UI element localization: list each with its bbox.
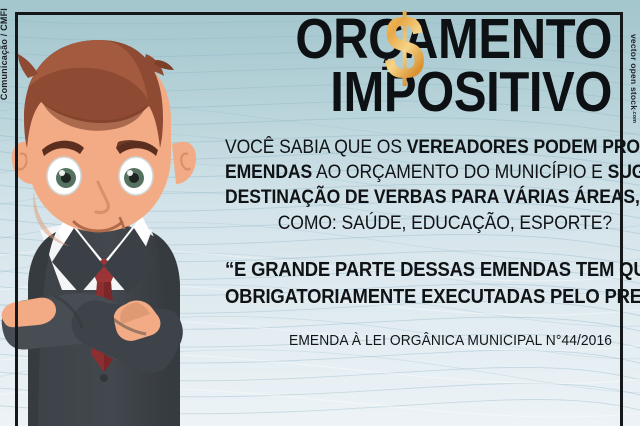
quote-paragraph: “E GRANDE PARTE DESSAS EMENDAS TEM QUE S… — [225, 256, 612, 310]
body-line-1-regular: VOCÊ SABIA QUE OS — [225, 136, 407, 158]
credit-right-label: vector open stock.com — [629, 34, 639, 123]
headline-block: ORÇAMENTO IMPOSITIVO $ — [182, 14, 612, 119]
credit-left-label: Comunicação / CMFI — [0, 8, 9, 100]
headline-line-2-text: IMPOSITIVO — [330, 60, 612, 124]
headline-line-2: IMPOSITIVO — [242, 67, 612, 118]
poster-text-content: ORÇAMENTO IMPOSITIVO $ VOCÊ SABIA QUE OS… — [182, 14, 612, 349]
body-line-2-bold-b: SUGERIR — [608, 161, 640, 183]
body-line-1-bold: VEREADORES PODEM PROPOR — [407, 136, 640, 158]
body-line-2-regular: AO ORÇAMENTO DO MUNICÍPIO E — [312, 161, 607, 183]
credit-right-text: vector open stock — [629, 34, 639, 110]
poster-canvas: Comunicação / CMFI vector open stock.com… — [0, 0, 640, 426]
headline-line-1: ORÇAMENTO — [242, 14, 612, 65]
legal-reference-label: EMENDA À LEI ORGÂNICA MUNICIPAL N°44/201… — [216, 332, 612, 349]
credit-right-suffix: .com — [631, 110, 637, 123]
body-line-4: COMO: SAÚDE, EDUCAÇÃO, ESPORTE? — [225, 211, 612, 236]
body-paragraph: VOCÊ SABIA QUE OS VEREADORES PODEM PROPO… — [225, 135, 612, 236]
body-line-4-regular: COMO: SAÚDE, EDUCAÇÃO, ESPORTE? — [278, 212, 612, 234]
body-line-2-bold-a: EMENDAS — [225, 161, 312, 183]
quote-line-1: “E GRANDE PARTE DESSAS EMENDAS TEM QUE S… — [225, 256, 612, 283]
body-line-3-bold: DESTINAÇÃO DE VERBAS PARA VÁRIAS ÁREAS, — [225, 186, 640, 208]
businessman-illustration — [0, 26, 204, 426]
quote-line-2: OBRIGATORIAMENTE EXECUTADAS PELO PREFEIT… — [225, 283, 612, 310]
body-line-3: DESTINAÇÃO DE VERBAS PARA VÁRIAS ÁREAS, — [225, 185, 612, 210]
body-line-2: EMENDAS AO ORÇAMENTO DO MUNICÍPIO E SUGE… — [225, 160, 612, 185]
body-line-1: VOCÊ SABIA QUE OS VEREADORES PODEM PROPO… — [225, 135, 612, 160]
